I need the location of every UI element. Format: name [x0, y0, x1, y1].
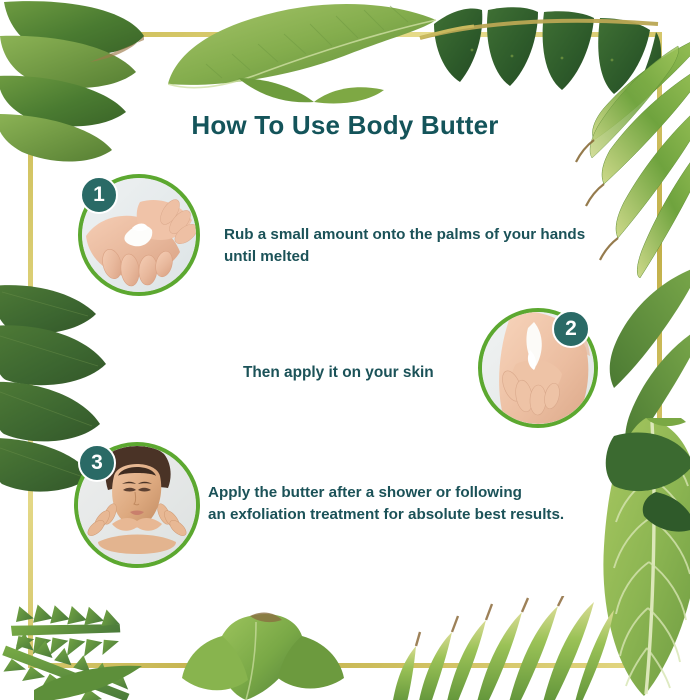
step-3-text-line-1: Apply the butter after a shower or follo… [208, 482, 618, 504]
step-3-badge: 3 [78, 444, 116, 482]
step-1-badge: 1 [80, 176, 118, 214]
step-3-text: Apply the butter after a shower or follo… [208, 482, 618, 525]
step-2-text: Then apply it on your skin [243, 362, 643, 384]
step-3-text-line-2: an exfoliation treatment for absolute be… [208, 504, 618, 526]
step-1-text: Rub a small amount onto the palms of you… [224, 224, 616, 267]
page-title: How To Use Body Butter [0, 110, 690, 141]
step-2-badge: 2 [552, 310, 590, 348]
poster-content: How To Use Body Butter [0, 0, 690, 700]
infographic-poster: How To Use Body Butter [0, 0, 690, 700]
